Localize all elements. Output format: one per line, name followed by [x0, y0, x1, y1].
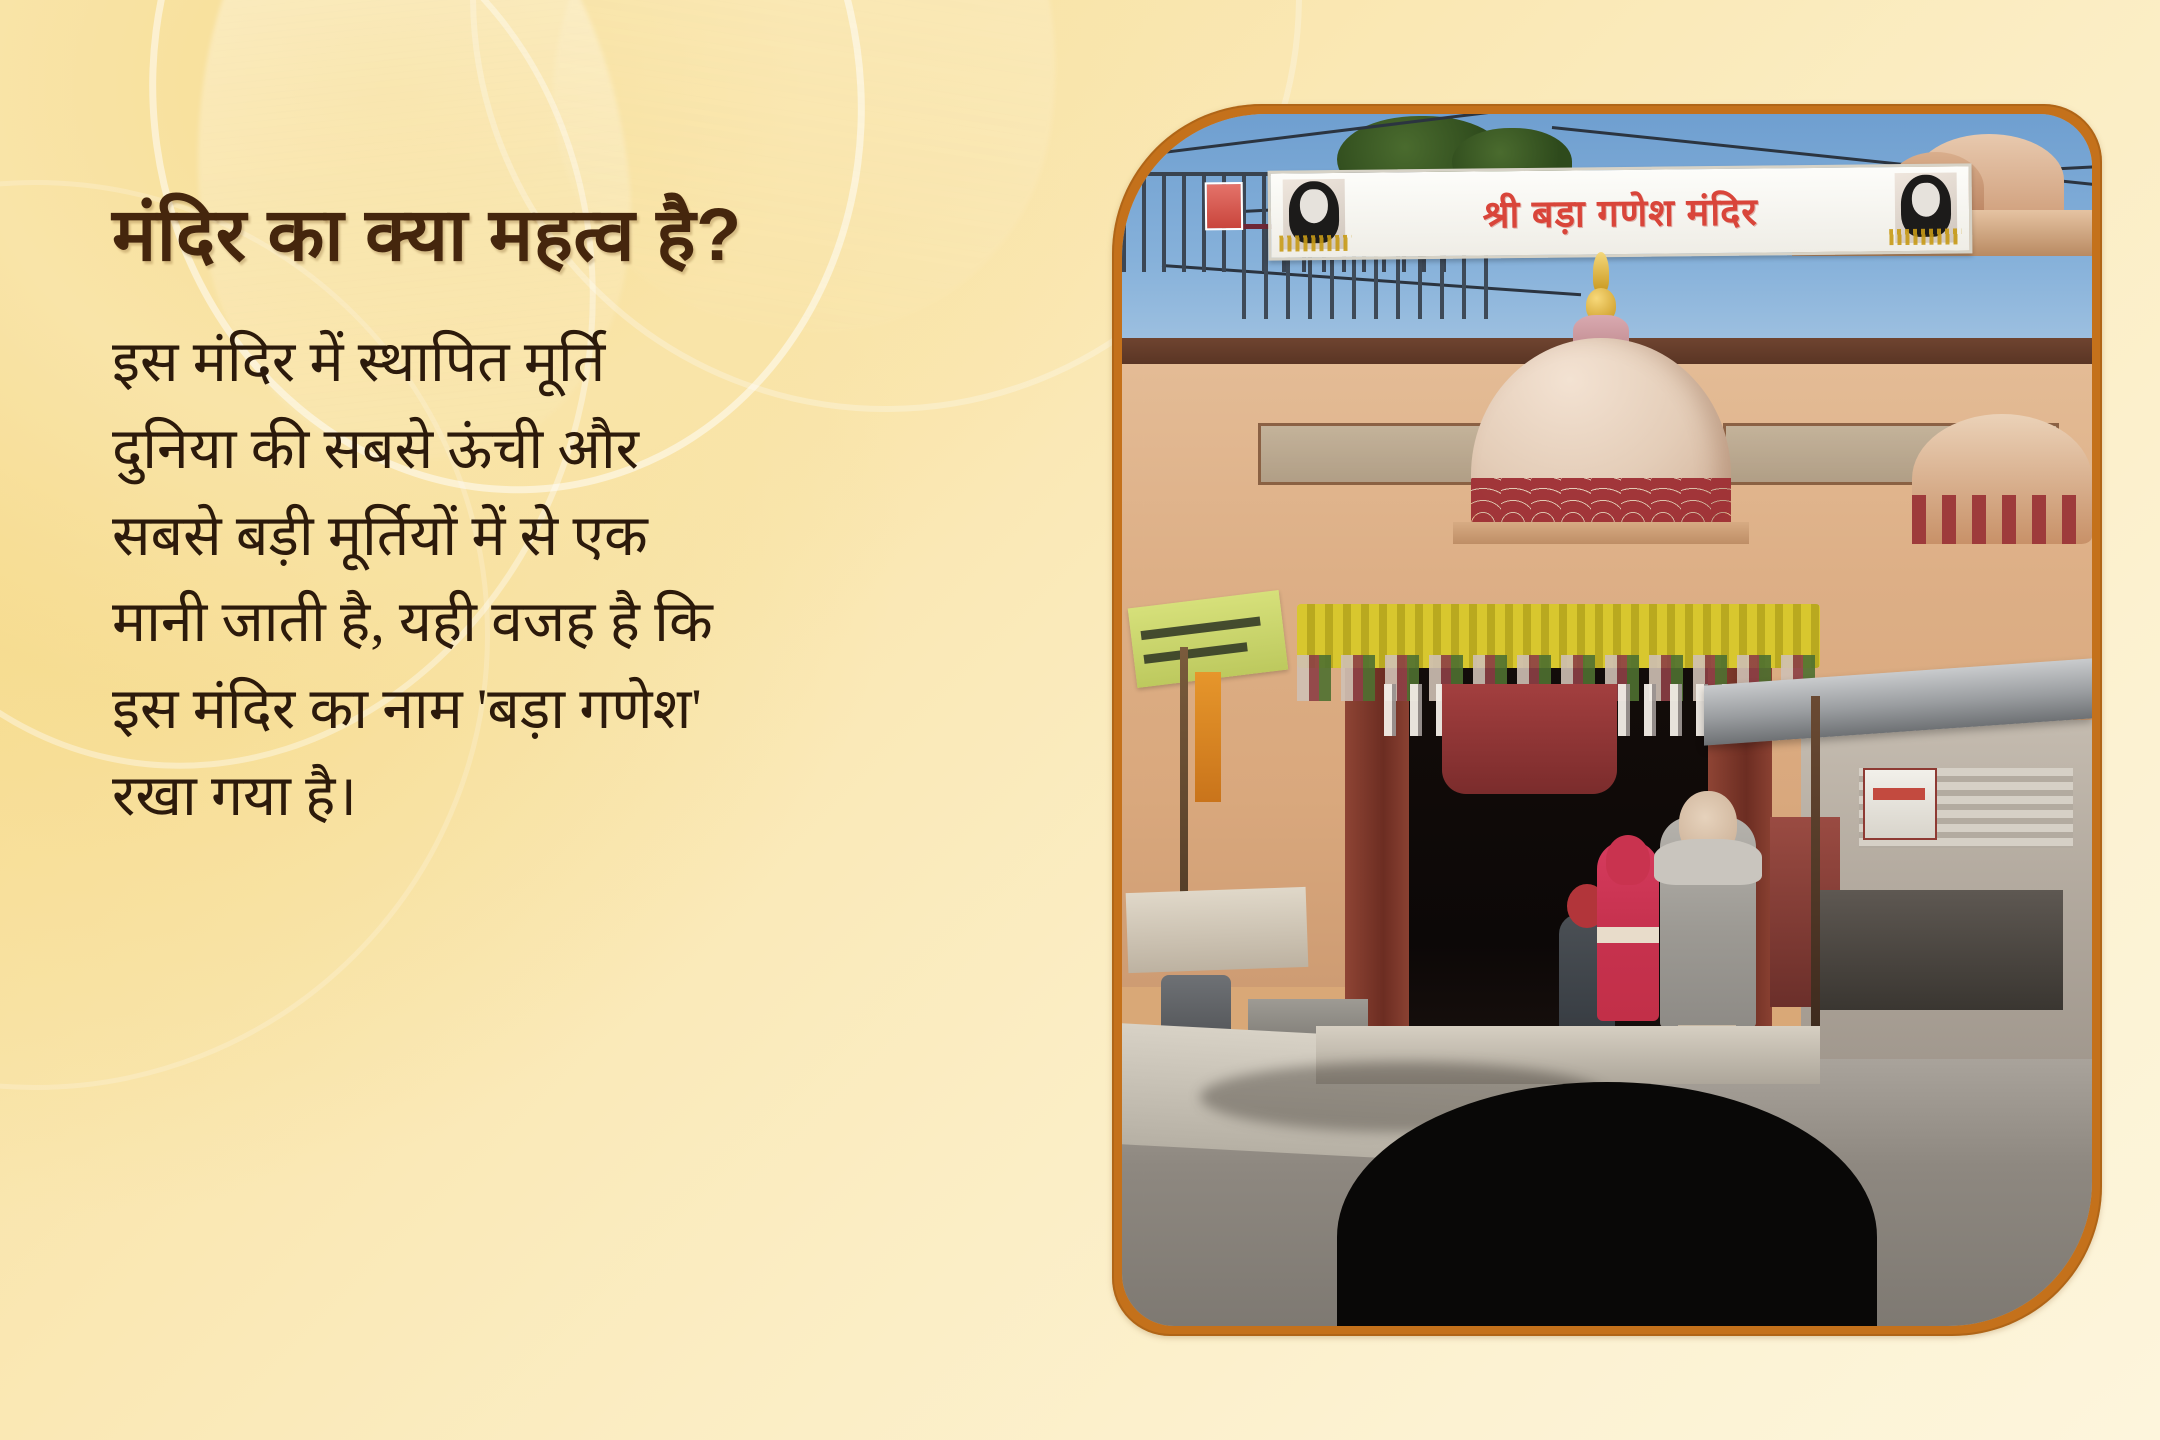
dome-scallop-trim	[1471, 478, 1731, 524]
body-line: रखा गया है।	[112, 765, 357, 828]
portrait-face	[1299, 189, 1327, 223]
person-sash	[1597, 927, 1659, 943]
temple-name-banner: श्री बड़ा गणेश मंदिर	[1267, 164, 1972, 261]
banner-flag-icon	[1204, 182, 1243, 230]
body-paragraph: इस मंदिर में स्थापित मूर्ति दुनिया की सब…	[112, 320, 932, 840]
stall-banner-text-line	[1140, 616, 1260, 640]
person-shawl	[1654, 839, 1762, 885]
stall-banner-text-line	[1143, 642, 1247, 664]
person-head	[1606, 835, 1650, 885]
body-line: मानी जाती है, यही वजह है कि	[112, 591, 713, 654]
shop-interior	[1811, 890, 2063, 1010]
temple-photo: श्री बड़ा गणेश मंदिर	[1122, 114, 2092, 1326]
body-line: इस मंदिर का नाम 'बड़ा गणेश'	[112, 678, 702, 741]
stall-flag	[1195, 672, 1221, 802]
page-title: मंदिर का क्या महत्व है?	[112, 196, 1012, 274]
banner-caption-left	[1279, 235, 1351, 252]
person-in-shawl	[1660, 817, 1756, 1027]
dome-base	[1453, 522, 1749, 544]
stall-table	[1126, 887, 1309, 973]
photo-frame: श्री बड़ा गणेश मंदिर	[1112, 104, 2102, 1336]
side-dome	[1912, 414, 2092, 544]
banner-text: श्री बड़ा गणेश मंदिर	[1482, 185, 1758, 240]
body-line: सबसे बड़ी मूर्तियों में से एक	[112, 505, 648, 568]
body-line: दुनिया की सबसे ऊंची और	[112, 418, 639, 481]
person-in-red	[1597, 841, 1659, 1021]
body-line: इस मंदिर में स्थापित मूर्ति	[112, 331, 605, 394]
awning-post	[1811, 696, 1820, 1026]
kalash-spire-icon	[1593, 252, 1609, 292]
text-column: मंदिर का क्या महत्व है? इस मंदिर में स्थ…	[112, 196, 1012, 840]
shop-sign	[1863, 768, 1937, 840]
banner-caption-right	[1889, 229, 1961, 246]
poster-canvas: मंदिर का क्या महत्व है? इस मंदिर में स्थ…	[0, 0, 2160, 1440]
main-dome-group	[1471, 278, 1731, 528]
door-drape	[1442, 684, 1617, 794]
